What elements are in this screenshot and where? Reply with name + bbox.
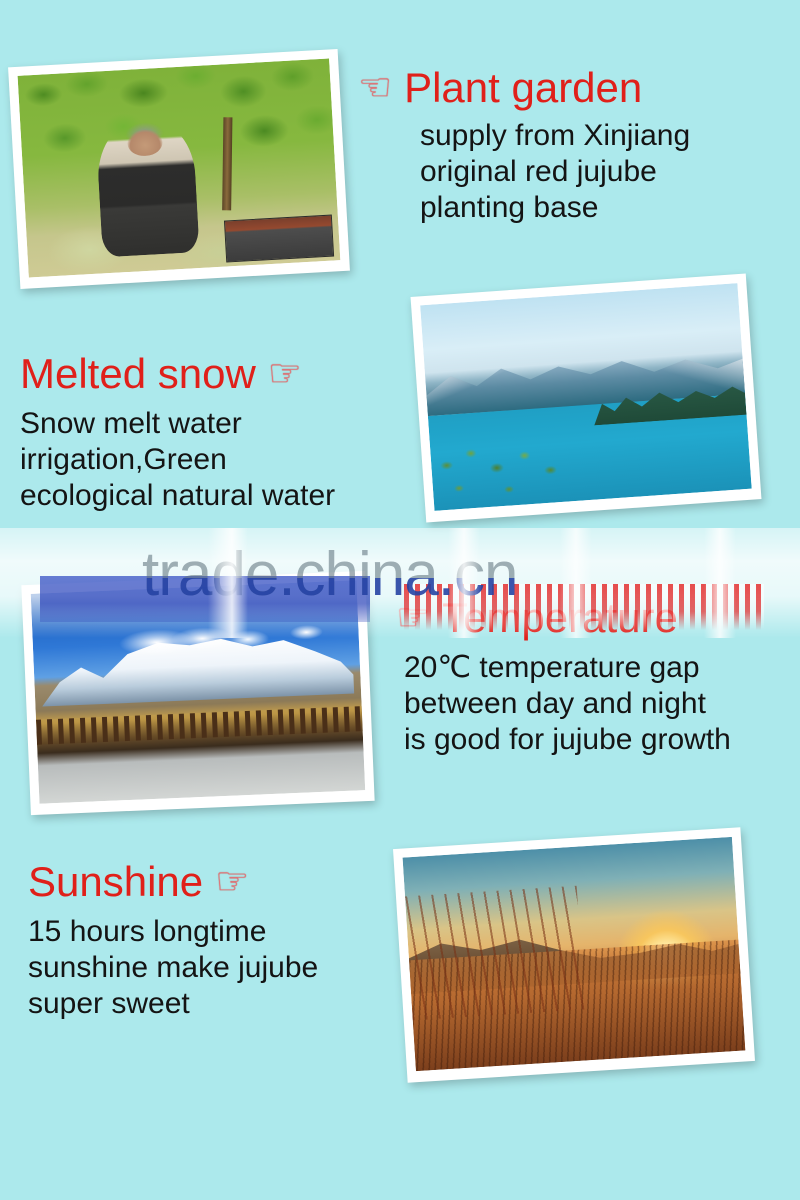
feature-block-plant-garden: ☜ Plant garden supply from Xinjiang orig…	[358, 66, 690, 226]
product-feature-poster: ☜ Plant garden supply from Xinjiang orig…	[0, 0, 800, 1200]
temperature-title: Temperature	[442, 596, 678, 640]
orchard-farmer-photo	[8, 49, 350, 289]
sunshine-headline: Sunshine ☞	[28, 860, 318, 904]
melted-snow-headline: Melted snow ☞	[20, 352, 335, 396]
plant-garden-title: Plant garden	[404, 66, 642, 110]
temperature-body: 20℃ temperature gap between day and nigh…	[404, 650, 731, 758]
sunshine-body: 15 hours longtime sunshine make jujube s…	[28, 914, 318, 1022]
farmer-figure	[95, 119, 199, 258]
plant-garden-body: supply from Xinjiang original red jujube…	[420, 118, 690, 226]
feature-block-melted-snow: Melted snow ☞ Snow melt water irrigation…	[20, 352, 335, 514]
feature-block-sunshine: Sunshine ☞ 15 hours longtime sunshine ma…	[28, 860, 318, 1022]
grass-stalks	[405, 885, 584, 1020]
feature-block-temperature: ☞ Temperature 20℃ temperature gap betwee…	[396, 596, 731, 758]
melted-snow-body: Snow melt water irrigation,Green ecologi…	[20, 406, 335, 514]
plant-garden-headline: ☜ Plant garden	[358, 66, 690, 110]
pointing-hand-left-icon: ☜	[358, 69, 392, 107]
foreground-branches	[423, 425, 606, 511]
pointing-hand-right-icon: ☞	[396, 599, 430, 637]
pointing-hand-right-icon: ☞	[215, 863, 249, 901]
sunset-field-photo	[393, 827, 755, 1082]
tree-trunk	[222, 117, 232, 210]
sunshine-title: Sunshine	[28, 860, 203, 904]
temperature-headline: ☞ Temperature	[396, 596, 731, 640]
jujube-crate	[224, 214, 334, 262]
snow-mountain-photo	[21, 571, 374, 815]
pointing-hand-right-icon: ☞	[268, 355, 302, 393]
melted-snow-title: Melted snow	[20, 352, 256, 396]
alpine-lake-photo	[411, 274, 762, 523]
